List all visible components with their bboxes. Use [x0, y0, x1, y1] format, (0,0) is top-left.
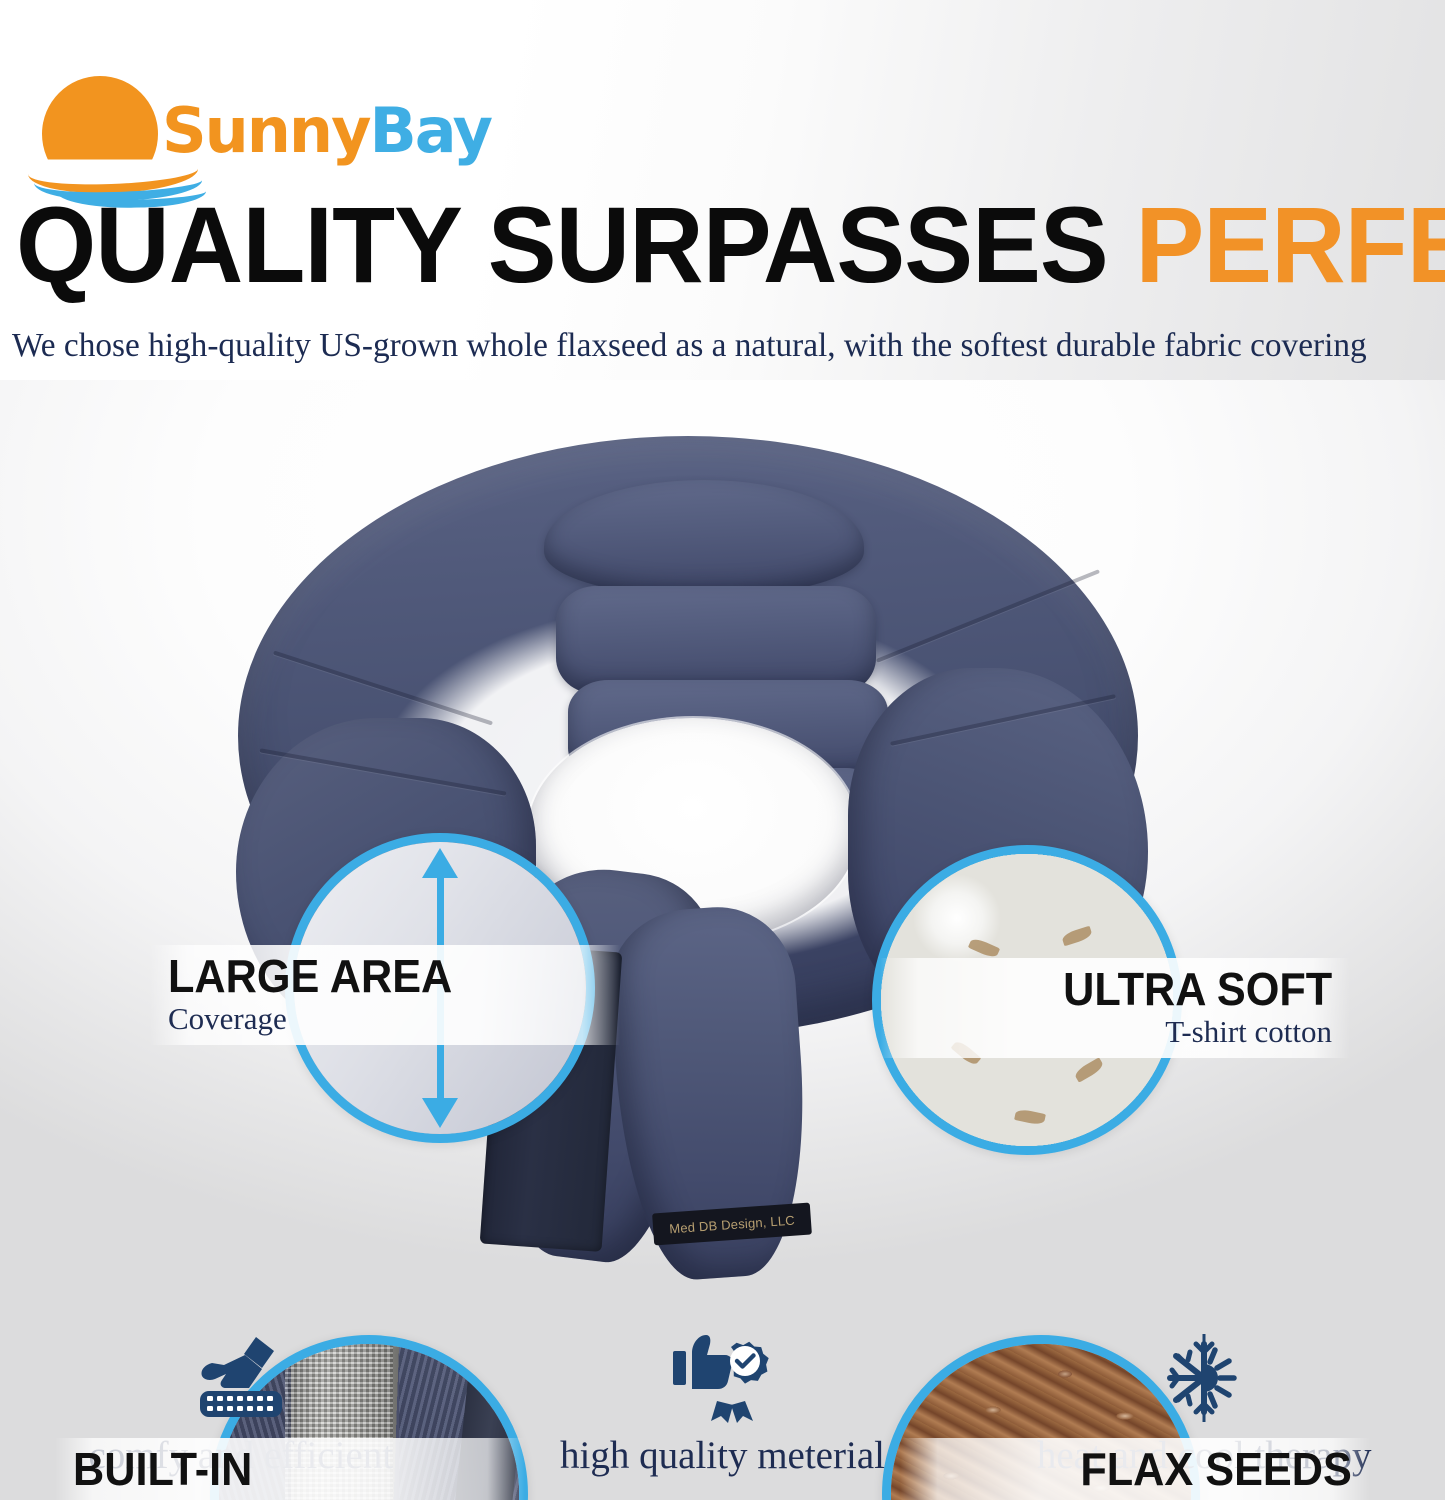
callout-subtitle: T-shirt cotton — [1165, 1015, 1332, 1049]
cotton-stem-icon — [1014, 1108, 1046, 1126]
callout-title: FLAX SEEDS — [1081, 1445, 1352, 1493]
callout-title: BUILT-IN — [73, 1445, 481, 1493]
headline-black-text: QUALITY SURPASSES — [16, 184, 1135, 305]
callout-label-flax-seeds: FLAX SEEDS Filling — [900, 1438, 1370, 1500]
header: SunnyBay QUALITY SURPASSES PERFECTION We… — [0, 0, 1445, 380]
callout-label-ultra-soft: ULTRA SOFT T-shirt cotton — [880, 958, 1350, 1058]
page-subtitle: We chose high-quality US-grown whole fla… — [12, 327, 1409, 365]
headline-orange-text: PERFECTION — [1135, 184, 1445, 305]
thumbs-up-award-icon — [671, 1330, 775, 1426]
product-stage: Med DB Design, LLC — [0, 380, 1445, 1330]
page-headline: QUALITY SURPASSES PERFECTION — [16, 186, 1367, 304]
cotton-stem-icon — [1073, 1058, 1105, 1083]
arrow-down-icon — [422, 1098, 458, 1128]
arrow-up-icon — [422, 848, 458, 878]
callout-subtitle: Elastic — [73, 1495, 507, 1500]
hand-on-pad-icon — [186, 1330, 296, 1426]
benefit-label: high quality meterial — [560, 1432, 885, 1480]
snowflake-sun-icon — [1154, 1330, 1254, 1426]
care-label-text: Med DB Design, LLC — [669, 1212, 795, 1236]
callout-label-built-in: BUILT-IN Elastic — [55, 1438, 525, 1500]
brand-wordmark: SunnyBay — [162, 94, 491, 167]
callout-subtitle: Coverage — [168, 1002, 602, 1036]
infographic-page: SunnyBay QUALITY SURPASSES PERFECTION We… — [0, 0, 1445, 1500]
brand-name-part1: Sunny — [162, 94, 369, 167]
callout-subtitle: Filling — [1269, 1495, 1352, 1500]
callout-title: ULTRA SOFT — [1063, 965, 1332, 1013]
benefit-quality: high quality meterial — [482, 1330, 964, 1500]
brand-logo: SunnyBay — [22, 58, 422, 168]
wrap-chamber — [556, 586, 876, 694]
brand-name-part2: Bay — [369, 94, 491, 167]
cotton-stem-icon — [1061, 926, 1093, 947]
cotton-stem-icon — [967, 936, 999, 959]
callout-title: LARGE AREA — [168, 952, 576, 1000]
callout-label-large-area: LARGE AREA Coverage — [150, 945, 620, 1045]
